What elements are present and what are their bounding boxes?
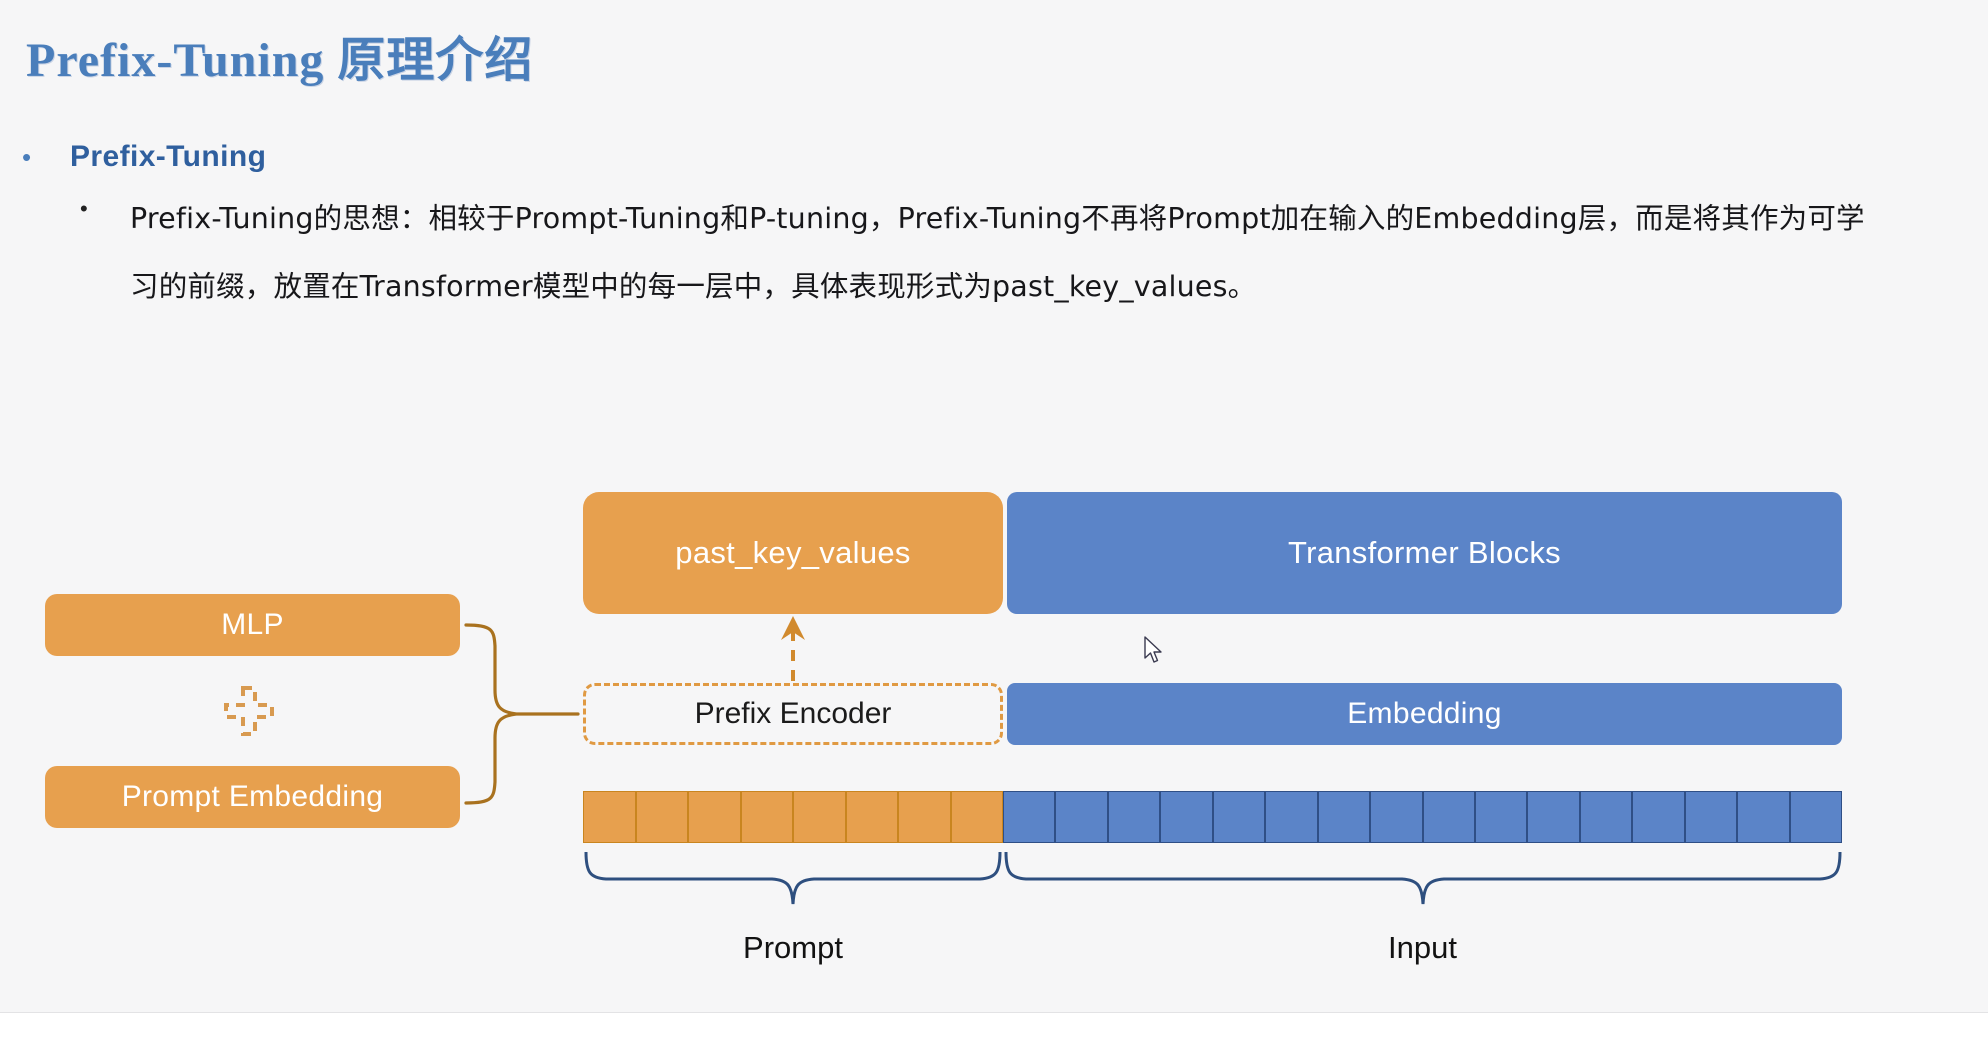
- token-cell: [1423, 791, 1475, 843]
- token-cell: [1580, 791, 1632, 843]
- token-cell: [1475, 791, 1527, 843]
- arrow-up-icon: [781, 616, 805, 681]
- token-cell: [898, 791, 951, 843]
- token-cell: [583, 791, 636, 843]
- token-cell: [688, 791, 741, 843]
- token-cell: [1527, 791, 1579, 843]
- token-cell: [636, 791, 689, 843]
- token-cell: [793, 791, 846, 843]
- diagram-box-mlp: MLP: [45, 594, 460, 656]
- token-cell: [1685, 791, 1737, 843]
- diagram-box-prefix-encoder: Prefix Encoder: [583, 683, 1003, 745]
- diagram-box-prompt-embedding: Prompt Embedding: [45, 766, 460, 828]
- token-cell: [1213, 791, 1265, 843]
- token-cell: [1790, 791, 1842, 843]
- token-cell: [1055, 791, 1107, 843]
- caption-prompt: Prompt: [583, 930, 1003, 966]
- left-group-brace: [466, 625, 578, 803]
- caption-input: Input: [1003, 930, 1842, 966]
- prefix-tuning-diagram: past_key_values Transformer Blocks MLP P…: [0, 0, 1988, 1038]
- token-cell: [846, 791, 899, 843]
- token-cell: [1737, 791, 1789, 843]
- token-cell: [1160, 791, 1212, 843]
- token-cell: [1318, 791, 1370, 843]
- token-cell: [951, 791, 1004, 843]
- diagram-box-transformer-blocks: Transformer Blocks: [1007, 492, 1842, 614]
- slide-footer-bar: [0, 1012, 1988, 1038]
- token-cell: [1370, 791, 1422, 843]
- slide-canvas: Prefix-Tuning 原理介绍 • Prefix-Tuning • Pre…: [0, 0, 1988, 1038]
- brace-input: [1006, 852, 1840, 904]
- brace-prompt: [586, 852, 1000, 904]
- diagram-box-embedding: Embedding: [1007, 683, 1842, 745]
- diagram-box-past-key-values: past_key_values: [583, 492, 1003, 614]
- token-cell: [741, 791, 794, 843]
- token-strip-prompt: [583, 791, 1003, 843]
- token-cell: [1108, 791, 1160, 843]
- token-strip-input: [1003, 791, 1842, 843]
- dashed-plus-icon: [222, 684, 276, 738]
- token-cell: [1632, 791, 1684, 843]
- mouse-pointer-icon: [1144, 636, 1166, 666]
- token-cell: [1265, 791, 1317, 843]
- token-cell: [1003, 791, 1055, 843]
